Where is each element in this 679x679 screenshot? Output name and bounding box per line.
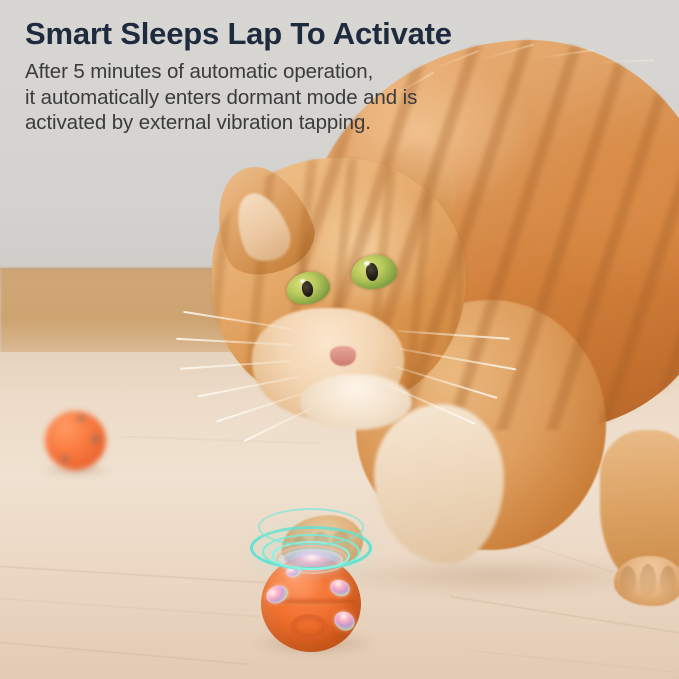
product-feature-image: Smart Sleeps Lap To Activate After 5 min… — [0, 0, 679, 679]
cat-rear-paw-toe — [620, 566, 636, 598]
subcopy-line-3: activated by external vibration tapping. — [25, 110, 495, 136]
cat-left-eye-glint — [300, 279, 305, 283]
cat-nose — [330, 346, 356, 366]
text-block: Smart Sleeps Lap To Activate After 5 min… — [25, 15, 495, 136]
background-ball — [45, 411, 106, 470]
cat-rear-paw-toe — [640, 564, 656, 598]
cat-right-eye-glint — [364, 261, 370, 266]
product-ball-button[interactable] — [290, 614, 328, 640]
page-title: Smart Sleeps Lap To Activate — [25, 15, 495, 53]
cat-rear-paw-toe — [660, 566, 676, 598]
vibration-ring-inner-front — [272, 541, 350, 570]
page-subcopy: After 5 minutes of automatic operation, … — [25, 59, 495, 136]
subcopy-line-1: After 5 minutes of automatic operation, — [25, 59, 495, 85]
subcopy-line-2: it automatically enters dormant mode and… — [25, 85, 495, 111]
